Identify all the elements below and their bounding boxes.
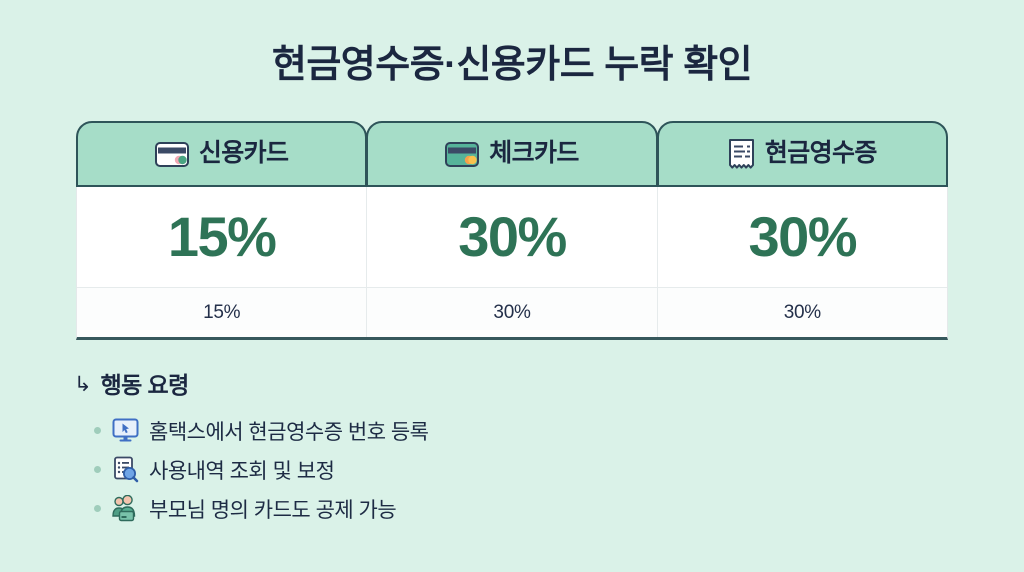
deduction-rate-table: 신용카드 체크카드: [76, 121, 948, 340]
table-header-debit-card: 체크카드: [366, 121, 657, 187]
corner-arrow-icon: ↳: [74, 374, 92, 395]
table-header-label: 신용카드: [199, 141, 289, 168]
action-item-label: 홈택스에서 현금영수증 번호 등록: [149, 416, 428, 446]
bullet-dot-icon: [94, 466, 101, 473]
people-card-icon: [110, 494, 140, 524]
action-item-review-history: 사용내역 조회 및 보정: [74, 450, 674, 489]
monitor-cursor-icon: [110, 416, 140, 446]
debit-card-icon: [445, 142, 479, 167]
table-cell-credit-card-rate: 15%: [77, 187, 367, 287]
action-item-hometax-register: 홈택스에서 현금영수증 번호 등록: [74, 411, 674, 450]
note-value: 30%: [493, 302, 530, 324]
note-value: 30%: [784, 302, 821, 324]
table-note-row: 15% 30% 30%: [77, 287, 947, 337]
table-cell-cash-receipt-note: 30%: [658, 288, 947, 337]
credit-card-icon: [155, 142, 189, 167]
action-guide-title: 행동 요령: [101, 366, 189, 400]
table-cell-debit-card-note: 30%: [367, 288, 657, 337]
action-item-parents-card: 부모님 명의 카드도 공제 가능: [74, 489, 674, 528]
action-guide-heading: ↳ 행동 요령: [74, 366, 674, 400]
big-value: 30%: [458, 209, 566, 265]
table-value-row: 15% 30% 30%: [77, 187, 947, 287]
action-guide-section: ↳ 행동 요령 홈택스에서 현금영수증 번호 등록: [74, 366, 674, 528]
table-header-label: 현금영수증: [765, 141, 877, 168]
table-header-row: 신용카드 체크카드: [76, 121, 948, 187]
big-value: 30%: [749, 209, 857, 265]
table-header-label: 체크카드: [489, 141, 579, 168]
big-value: 15%: [168, 209, 276, 265]
bullet-dot-icon: [94, 505, 101, 512]
table-header-credit-card: 신용카드: [76, 121, 367, 187]
table-header-cash-receipt: 현금영수증: [657, 121, 948, 187]
table-cell-cash-receipt-rate: 30%: [658, 187, 947, 287]
table-cell-debit-card-rate: 30%: [367, 187, 657, 287]
action-item-label: 사용내역 조회 및 보정: [149, 455, 334, 485]
receipt-icon: [728, 138, 755, 171]
table-body: 15% 30% 30% 15% 30% 30%: [76, 187, 948, 340]
document-search-icon: [110, 455, 140, 485]
action-item-label: 부모님 명의 카드도 공제 가능: [149, 494, 396, 524]
table-cell-credit-card-note: 15%: [77, 288, 367, 337]
page-title: 현금영수증·신용카드 누락 확인: [0, 44, 1024, 88]
bullet-dot-icon: [94, 427, 101, 434]
note-value: 15%: [203, 302, 240, 324]
